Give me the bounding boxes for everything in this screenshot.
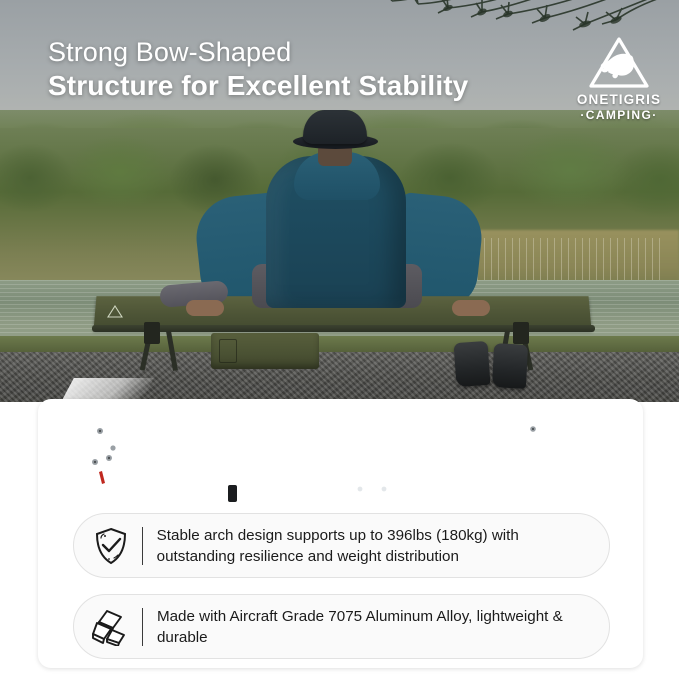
brand-logo: ONETIGRIS ·CAMPING· xyxy=(573,36,665,123)
product-image-bow-bar xyxy=(38,401,643,509)
bucket-hat xyxy=(303,110,367,144)
cot-brand-logo-icon xyxy=(107,305,123,318)
cot-bracket xyxy=(513,322,529,344)
feature-text-1: Stable arch design supports up to 396lbs… xyxy=(157,525,609,567)
cot-bracket xyxy=(144,322,160,344)
right-hook-hardware xyxy=(524,404,543,446)
feature-text-2: Made with Aircraft Grade 7075 Aluminum A… xyxy=(157,606,609,648)
feature-pill-2[interactable]: Made with Aircraft Grade 7075 Aluminum A… xyxy=(73,594,610,659)
person-hand xyxy=(452,300,490,316)
feature-pill-1[interactable]: Stable arch design supports up to 396lbs… xyxy=(73,513,610,578)
pill-divider xyxy=(142,527,143,565)
shield-check-icon xyxy=(74,527,142,565)
person-hand xyxy=(186,300,224,316)
logo-name: ONETIGRIS xyxy=(573,92,665,108)
hero-photo: Strong Bow-Shaped Structure for Excellen… xyxy=(0,0,679,402)
cot-storage-bag xyxy=(211,333,319,369)
left-hook-hardware xyxy=(86,411,116,484)
tiger-head-triangle-icon xyxy=(588,36,650,90)
path-marker-line xyxy=(62,378,154,400)
hiking-boot xyxy=(492,343,528,389)
logo-subtitle: ·CAMPING· xyxy=(573,108,665,123)
product-marketing-image: Strong Bow-Shaped Structure for Excellen… xyxy=(0,0,679,679)
info-panel: Stable arch design supports up to 396lbs… xyxy=(38,399,643,668)
metal-ingots-icon xyxy=(74,608,142,646)
hiking-boot xyxy=(454,341,491,387)
pill-divider xyxy=(142,608,143,646)
fence xyxy=(470,238,660,284)
